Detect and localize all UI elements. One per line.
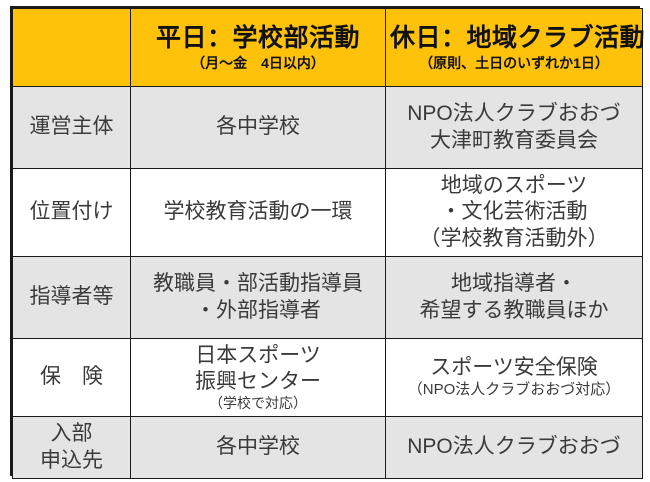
table-header-row: 平日：学校部活動 （月～金 4日以内） 休日：地域クラブ活動 （原則、土日のいず… (13, 9, 643, 87)
cell-line: 大津町教育委員会 (390, 128, 638, 154)
cell-holiday-operating-body: NPO法人クラブおおづ 大津町教育委員会 (386, 87, 643, 169)
cell-weekday-positioning: 学校教育活動の一環 (131, 169, 386, 257)
cell-line: 日本スポーツ (135, 343, 381, 369)
table-row: 指導者等 教職員・部活動指導員 ・外部指導者 地域指導者・ 希望する教職員ほか (13, 257, 643, 339)
row-label-insurance: 保 険 (13, 339, 131, 417)
cell-weekday-operating-body: 各中学校 (131, 87, 386, 169)
table-row: 入部 申込先 各中学校 NPO法人クラブおおづ (13, 417, 643, 479)
row-label-line: 申込先 (17, 448, 126, 474)
cell-line: 各中学校 (135, 434, 381, 460)
cell-weekday-insurance: 日本スポーツ 振興センター （学校で対応） (131, 339, 386, 417)
cell-line: 教職員・部活動指導員 (135, 271, 381, 297)
cell-line: 希望する教職員ほか (390, 298, 638, 324)
cell-note: （学校で対応） (135, 395, 381, 413)
cell-holiday-instructors: 地域指導者・ 希望する教職員ほか (386, 257, 643, 339)
cell-line: （学校教育活動外） (390, 226, 638, 252)
header-cell-holiday: 休日：地域クラブ活動 （原則、土日のいずれか1日） (386, 9, 643, 87)
cell-holiday-insurance: スポーツ安全保険 （NPO法人クラブおおづ対応） (386, 339, 643, 417)
row-label-application: 入部 申込先 (13, 417, 131, 479)
comparison-table-container: 平日：学校部活動 （月～金 4日以内） 休日：地域クラブ活動 （原則、土日のいず… (10, 6, 640, 476)
cell-line: ・文化芸術活動 (390, 199, 638, 225)
cell-line: 地域指導者・ (390, 271, 638, 297)
cell-line: 振興センター (135, 369, 381, 395)
header-corner-blank (13, 9, 131, 87)
cell-note: （NPO法人クラブおおづ対応） (390, 381, 638, 400)
comparison-table: 平日：学校部活動 （月～金 4日以内） 休日：地域クラブ活動 （原則、土日のいず… (12, 8, 643, 479)
cell-line: 各中学校 (135, 114, 381, 140)
cell-holiday-application: NPO法人クラブおおづ (386, 417, 643, 479)
cell-weekday-instructors: 教職員・部活動指導員 ・外部指導者 (131, 257, 386, 339)
cell-line: NPO法人クラブおおづ (390, 101, 638, 127)
cell-line: NPO法人クラブおおづ (390, 434, 638, 460)
cell-weekday-application: 各中学校 (131, 417, 386, 479)
cell-line: 地域のスポーツ (390, 173, 638, 199)
table-row: 運営主体 各中学校 NPO法人クラブおおづ 大津町教育委員会 (13, 87, 643, 169)
row-label-positioning: 位置付け (13, 169, 131, 257)
header-holiday-title: 休日：地域クラブ活動 (390, 23, 638, 54)
row-label-operating-body: 運営主体 (13, 87, 131, 169)
header-cell-weekday: 平日：学校部活動 （月～金 4日以内） (131, 9, 386, 87)
cell-line: スポーツ安全保険 (390, 355, 638, 381)
header-weekday-subtitle: （月～金 4日以内） (135, 55, 381, 73)
row-label-line: 入部 (17, 421, 126, 447)
header-weekday-title: 平日：学校部活動 (135, 23, 381, 54)
cell-holiday-positioning: 地域のスポーツ ・文化芸術活動 （学校教育活動外） (386, 169, 643, 257)
table-row: 位置付け 学校教育活動の一環 地域のスポーツ ・文化芸術活動 （学校教育活動外） (13, 169, 643, 257)
cell-line: ・外部指導者 (135, 298, 381, 324)
table-row: 保 険 日本スポーツ 振興センター （学校で対応） スポーツ安全保険 （NPO法… (13, 339, 643, 417)
row-label-instructors: 指導者等 (13, 257, 131, 339)
cell-line: 学校教育活動の一環 (135, 199, 381, 225)
header-holiday-subtitle: （原則、土日のいずれか1日） (390, 55, 638, 73)
